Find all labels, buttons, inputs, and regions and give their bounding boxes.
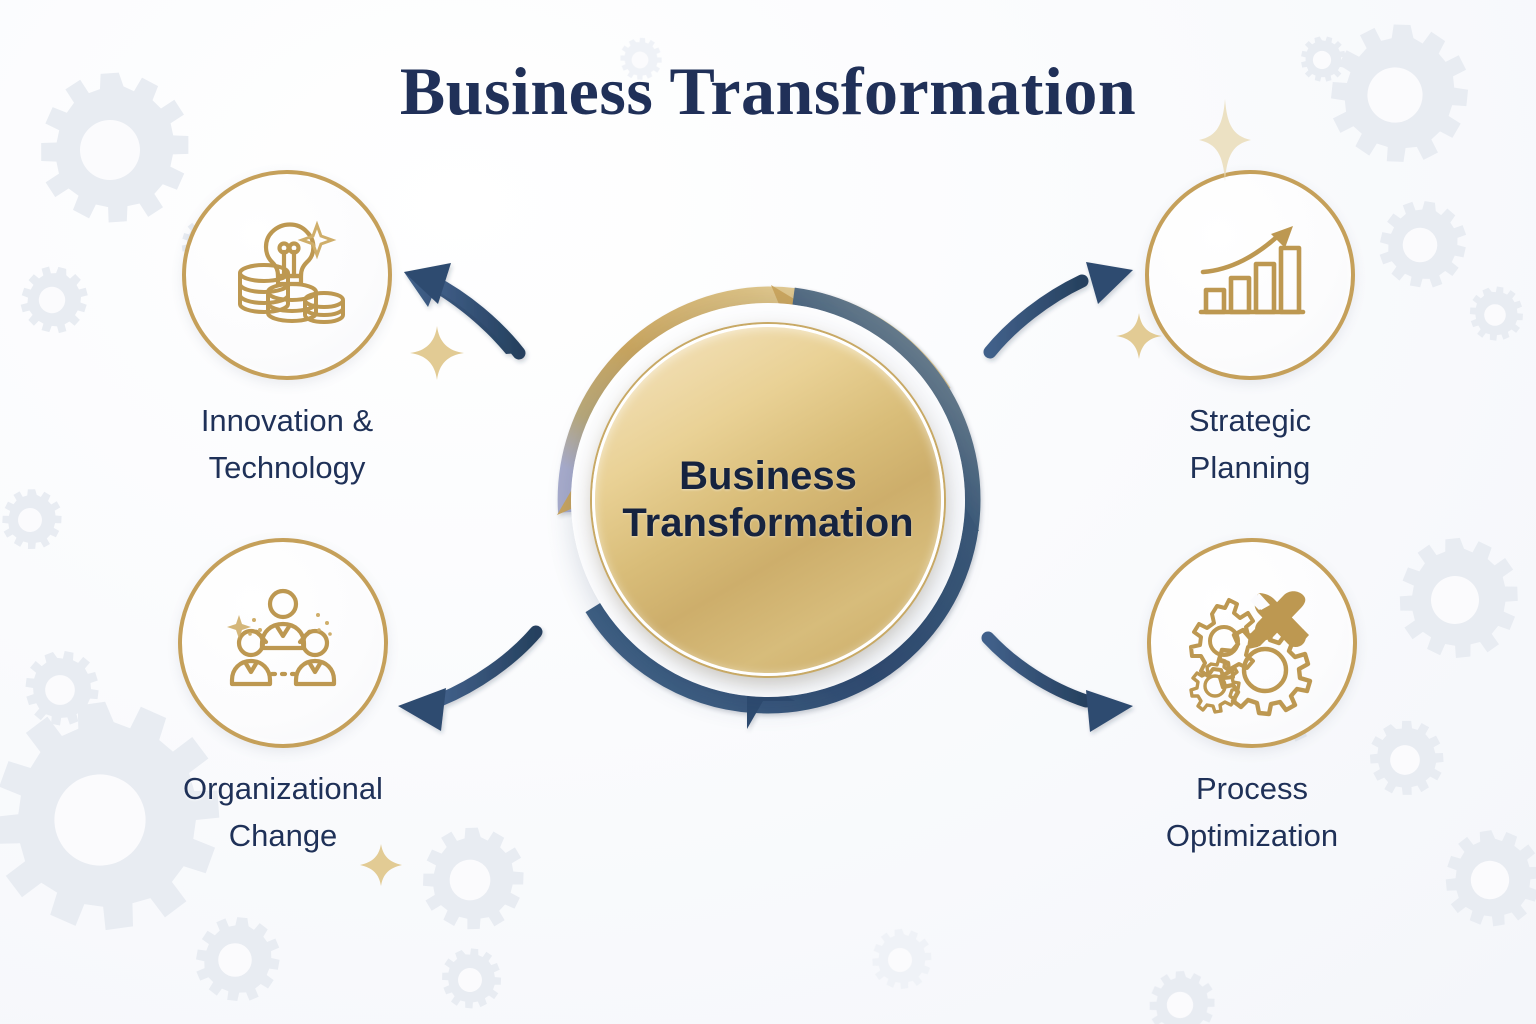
- page-title: Business Transformation: [0, 52, 1536, 131]
- node-ring-process[interactable]: [1147, 538, 1357, 748]
- node-ring-innovation[interactable]: [182, 170, 392, 380]
- node-strategic-planning[interactable]: Strategic Planning: [1100, 170, 1400, 491]
- node-innovation-technology[interactable]: Innovation & Technology: [137, 170, 437, 491]
- node-organizational-change[interactable]: Organizational Change: [133, 538, 433, 859]
- infographic-canvas: Business Transformation: [0, 0, 1536, 1024]
- gears-tools-icon: [1177, 568, 1327, 718]
- node-label-organizational-line2: Change: [133, 813, 433, 860]
- node-label-process-line2: Optimization: [1102, 813, 1402, 860]
- node-label-innovation-line2: Technology: [137, 445, 437, 492]
- node-process-optimization[interactable]: Process Optimization: [1102, 538, 1402, 859]
- hub-title-line1: Business: [679, 453, 857, 500]
- node-label-process: Process Optimization: [1102, 766, 1402, 859]
- business-transformation-hub[interactable]: Business Transformation: [533, 265, 1003, 735]
- node-label-strategic-line2: Planning: [1100, 445, 1400, 492]
- node-ring-organizational[interactable]: [178, 538, 388, 748]
- lightbulb-coins-icon: [212, 200, 362, 350]
- hub-core[interactable]: Business Transformation: [592, 324, 944, 676]
- growth-bar-chart-icon: [1175, 200, 1325, 350]
- hub-title-line2: Transformation: [622, 500, 913, 547]
- node-label-strategic: Strategic Planning: [1100, 398, 1400, 491]
- node-label-innovation: Innovation & Technology: [137, 398, 437, 491]
- people-network-icon: [208, 568, 358, 718]
- node-label-strategic-line1: Strategic: [1100, 398, 1400, 445]
- node-label-organizational: Organizational Change: [133, 766, 433, 859]
- node-ring-strategic[interactable]: [1145, 170, 1355, 380]
- node-label-innovation-line1: Innovation &: [137, 398, 437, 445]
- node-label-organizational-line1: Organizational: [133, 766, 433, 813]
- node-label-process-line1: Process: [1102, 766, 1402, 813]
